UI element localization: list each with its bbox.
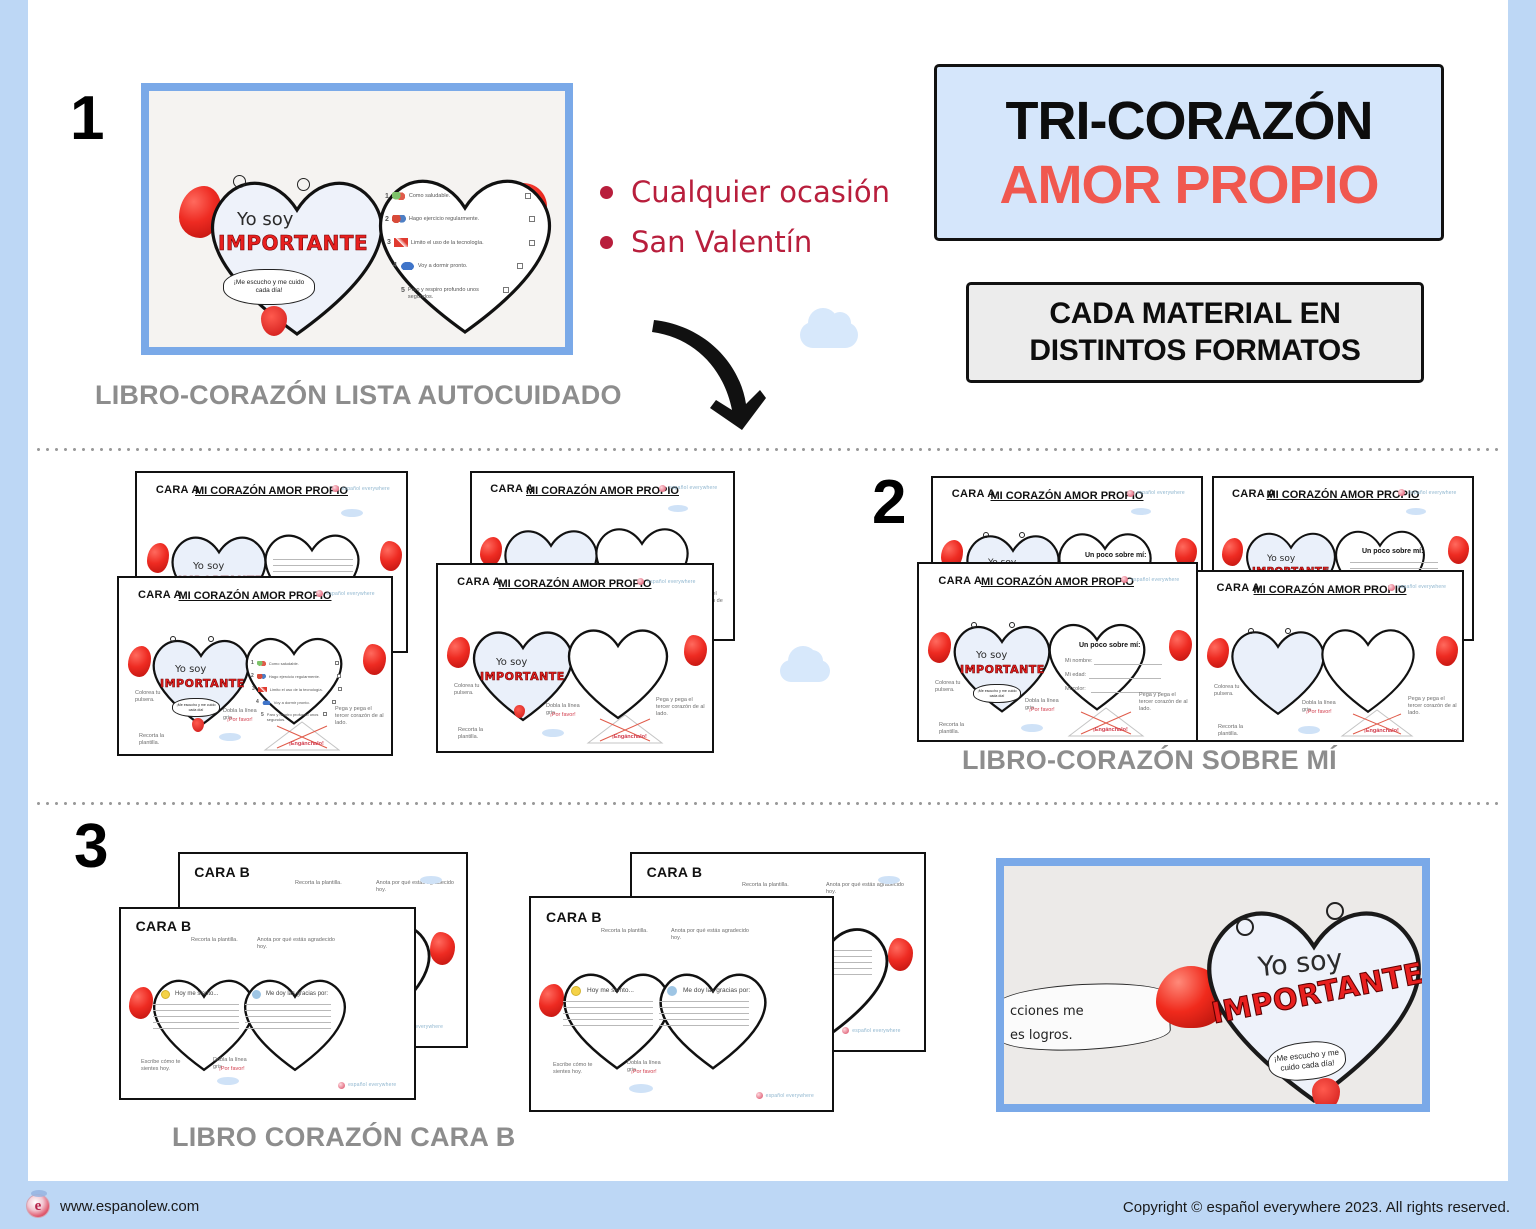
writing-line xyxy=(1094,664,1162,670)
cloud-decoration-icon xyxy=(878,876,900,884)
note-escribe: Escribe cómo te sientes hoy. xyxy=(553,1062,607,1076)
checklist-icon xyxy=(258,687,267,692)
note-colorea: Colorea tu pulsera. xyxy=(1214,684,1248,698)
checklist-number: 4 xyxy=(393,262,397,269)
checklist-item: 1 Como saludable. xyxy=(251,660,339,666)
brand-logo: español everywhere xyxy=(1398,489,1456,496)
writing-lines xyxy=(245,1004,331,1034)
sheet-side-label: CARA A xyxy=(938,575,982,587)
footer-copyright: Copyright © español everywhere 2023. All… xyxy=(1123,1199,1510,1216)
writing-lines xyxy=(659,1001,749,1031)
speech-bubble: ¡Me escucho y me cuido cada día! xyxy=(223,269,315,305)
brand-label: español everywhere xyxy=(1408,490,1456,496)
note-dobla-red: ¡Por favor! xyxy=(550,712,576,719)
checklist-label: Voy a dormir pronto. xyxy=(418,263,514,269)
brand-label: español everywhere xyxy=(1137,490,1185,496)
photo-background: Yo soy IMPORTANTE ¡Me escucho y me cuido… xyxy=(149,91,565,347)
punch-hole-right-icon xyxy=(297,178,310,191)
title-line-2: AMOR PROPIO xyxy=(999,154,1378,216)
brand-label: español everywhere xyxy=(852,1028,900,1034)
worksheet-cara-b[interactable]: CARA B Recorta la plantilla. Anota por q… xyxy=(529,896,834,1112)
step-number-3: 3 xyxy=(74,816,108,878)
subtitle-line-1: CADA MATERIAL EN xyxy=(1049,296,1340,333)
punch-hole-right-icon xyxy=(208,636,214,642)
smiley-face-icon xyxy=(571,986,581,996)
step-caption-3: LIBRO CORAZÓN CARA B xyxy=(172,1122,515,1153)
checklist-number: 1 xyxy=(385,193,389,200)
checklist-label: Hago ejercicio regularmente. xyxy=(409,216,526,222)
brand-logo: español everywhere xyxy=(756,1092,814,1099)
red-heart-tab-right-icon xyxy=(363,644,386,675)
sheet-title: MI CORAZÓN AMOR PROPIO xyxy=(195,485,348,497)
sheet-side-label: CARA B xyxy=(546,909,602,925)
punch-hole-left-icon xyxy=(971,622,977,628)
brand-dot-icon xyxy=(659,485,666,492)
field-label-nombre: Mi nombre: xyxy=(1065,658,1093,665)
sheet-title: MI CORAZÓN AMOR PROPIO xyxy=(991,490,1144,502)
heart-text-line2: IMPORTANTE xyxy=(480,670,565,683)
checklist-checkbox[interactable] xyxy=(525,193,531,199)
checklist-checkbox[interactable] xyxy=(332,700,336,704)
brand-dot-icon xyxy=(1127,490,1134,497)
cloud-decoration-icon xyxy=(1131,508,1151,515)
red-heart-tab-right-icon xyxy=(1448,536,1469,564)
checklist-item: 1 Como saludable. xyxy=(385,192,531,200)
checklist-icon xyxy=(262,700,271,705)
feature-bullet-list: Cualquier ocasión San Valentín xyxy=(600,175,890,275)
cloud-decoration-icon xyxy=(1021,724,1043,732)
brand-label: español everywhere xyxy=(326,591,374,597)
section-divider-2 xyxy=(34,802,1504,805)
cloud-decoration-icon xyxy=(219,733,241,741)
sheet-side-label: CARA A xyxy=(457,576,501,588)
checklist-checkbox[interactable] xyxy=(335,661,339,665)
sheet-title: MI CORAZÓN AMOR PROPIO xyxy=(499,578,652,590)
footer-bar: e www.espanolew.com Copyright © español … xyxy=(0,1181,1536,1229)
note-engancha: ¡Engánchalo! xyxy=(289,741,324,748)
note-anota: Anota por qué estás agradecido hoy. xyxy=(671,928,753,942)
brand-label: español everywhere xyxy=(348,1082,396,1088)
note-recorta: Recorta la plantilla. xyxy=(295,880,347,887)
punch-hole-right-icon xyxy=(1285,628,1291,634)
smiley-face-icon xyxy=(161,990,170,999)
brand-dot-icon xyxy=(1398,489,1405,496)
prompt-hoy-me-siento: Hoy me siento... xyxy=(175,991,218,999)
punch-hole-left-icon xyxy=(983,532,989,538)
bullet-label: San Valentín xyxy=(631,225,812,259)
heart-text-line2: IMPORTANTE xyxy=(160,677,245,690)
punch-hole-left-icon xyxy=(233,175,246,188)
speech-bubble: ¡Me escucho y me cuido cada día! xyxy=(973,684,1021,703)
heart-text-line1: Yo soy xyxy=(237,209,293,230)
checklist-label: Como saludable. xyxy=(409,193,522,199)
note-recorta: Recorta la plantilla. xyxy=(191,937,243,944)
title-line-1: TRI-CORAZÓN xyxy=(1006,90,1373,152)
punch-hole-left-icon xyxy=(1236,918,1254,936)
writing-lines xyxy=(563,1001,653,1031)
checklist-label: Hago ejercicio regularmente. xyxy=(269,674,334,679)
brand-dot-icon xyxy=(756,1092,763,1099)
brand-label: español everywhere xyxy=(1398,584,1446,590)
red-heart-tab-right-icon xyxy=(1436,636,1458,666)
checklist-item: 2 Hago ejercicio regularmente. xyxy=(251,673,341,679)
checklist-label: Limito el uso de la tecnología. xyxy=(411,240,526,246)
sheet-side-label: CARA A xyxy=(952,488,996,500)
checklist-checkbox[interactable] xyxy=(323,712,327,716)
checklist-number: 2 xyxy=(385,216,389,223)
note-anota: Anota por qué estás agradecido hoy. xyxy=(826,882,906,896)
brand-logo: español everywhere xyxy=(332,485,390,492)
punch-hole-right-icon xyxy=(1326,902,1344,920)
field-label-color: Mi color: xyxy=(1065,686,1086,693)
checklist-item: 3 Limito el uso de la tecnología. xyxy=(387,238,535,247)
brand-label: español everywhere xyxy=(669,485,717,491)
brand-dot-icon xyxy=(842,1027,849,1034)
title-box: TRI-CORAZÓN AMOR PROPIO xyxy=(934,64,1444,241)
checklist-checkbox[interactable] xyxy=(529,240,535,246)
brand-label: español everywhere xyxy=(647,579,695,585)
note-anota: Anota por qué estás agradecido hoy. xyxy=(376,880,454,894)
checklist-number: 4 xyxy=(256,699,259,705)
brand-label: español everywhere xyxy=(342,486,390,492)
brand-dot-icon xyxy=(316,590,323,597)
note-dobla-red: ¡Por favor! xyxy=(1306,709,1332,716)
checklist-label: Voy a dormir pronto. xyxy=(274,700,329,705)
checklist-label: Limito el uso de la tecnología. xyxy=(270,687,335,692)
bracelet-text-line2: es logros. xyxy=(1010,1028,1073,1043)
checklist-number: 3 xyxy=(252,686,255,692)
heart-text-line1: Yo soy xyxy=(976,650,1007,661)
cloud-decoration-icon xyxy=(542,729,564,737)
product-photo-heart-checklist: Yo soy IMPORTANTE ¡Me escucho y me cuido… xyxy=(141,83,573,355)
list-item: San Valentín xyxy=(600,225,890,259)
subtitle-line-2: DISTINTOS FORMATOS xyxy=(1029,333,1360,370)
sheet-side-label: CARA B xyxy=(647,864,703,880)
un-poco-heading: Un poco sobre mí: xyxy=(1079,642,1140,651)
note-colorea: Colorea tu pulsera. xyxy=(135,690,169,704)
brand-logo: español everywhere xyxy=(842,1027,900,1034)
un-poco-heading: Un poco sobre mí: xyxy=(1085,552,1146,561)
red-heart-tab-right-icon xyxy=(380,541,402,571)
cloud-decoration-icon xyxy=(780,660,830,682)
list-item: Cualquier ocasión xyxy=(600,175,890,209)
heart-text-line1: Yo soy xyxy=(1267,554,1295,564)
poster-page: 1 2 3 LIBRO-CORAZÓN LISTA AUTOCUIDADO LI… xyxy=(0,0,1536,1229)
photo-background: cciones me es logros. Yo soy IMPORTANTE … xyxy=(1004,866,1422,1104)
brand-dot-icon xyxy=(338,1082,345,1089)
checklist-checkbox[interactable] xyxy=(338,687,342,691)
note-recorta: Recorta la plantilla. xyxy=(742,882,794,889)
note-engancha: ¡Engánchalo! xyxy=(1364,728,1399,735)
checklist-icon xyxy=(257,674,266,679)
hands-icon xyxy=(667,986,677,996)
checklist-item: 4 Voy a dormir pronto. xyxy=(393,261,523,270)
brand-label: español everywhere xyxy=(766,1093,814,1099)
bullet-dot-icon xyxy=(600,236,613,249)
note-engancha: ¡Engánchalo! xyxy=(1093,727,1128,734)
paper-heart-right xyxy=(365,151,565,351)
sheet-title: MI CORAZÓN AMOR PROPIO xyxy=(1267,489,1420,501)
checklist-item: 5 Paro y respiro profundo unos segundos. xyxy=(401,287,509,302)
brand-logo: español everywhere xyxy=(1121,576,1179,583)
checklist-icon xyxy=(400,261,415,270)
checklist-number: 1 xyxy=(251,660,254,666)
note-recorta: Recorta la plantilla. xyxy=(139,733,185,747)
worksheet-cara-a[interactable]: CARA A MI CORAZÓN AMOR PROPIO español ev… xyxy=(117,576,393,756)
sheet-side-label: CARA A xyxy=(138,589,182,601)
checklist-checkbox[interactable] xyxy=(337,674,341,678)
punch-hole-left-icon xyxy=(1248,628,1254,634)
note-colorea: Colorea tu pulsera. xyxy=(935,680,969,694)
strawberry-mascot-icon xyxy=(1312,1078,1340,1110)
bullet-label: Cualquier ocasión xyxy=(631,175,890,209)
bullet-dot-icon xyxy=(600,186,613,199)
sheet-side-label: CARA A xyxy=(156,484,200,496)
step-number-1: 1 xyxy=(70,88,104,150)
cloud-decoration-icon xyxy=(1298,726,1320,734)
sheet-title: MI CORAZÓN AMOR PROPIO xyxy=(981,576,1134,588)
punch-hole-right-icon xyxy=(1019,532,1025,538)
checklist-icon xyxy=(257,661,266,666)
checklist-label: Paro y respiro profundo unos segundos. xyxy=(408,287,500,302)
product-photo-heart-bracelet: cciones me es logros. Yo soy IMPORTANTE … xyxy=(996,858,1430,1112)
sheet-title: MI CORAZÓN AMOR PROPIO xyxy=(526,485,679,497)
note-anota: Anota por qué estás agradecido hoy. xyxy=(257,937,337,951)
cloud-decoration-icon xyxy=(668,505,688,512)
writing-line xyxy=(1089,678,1161,684)
cloud-decoration-icon xyxy=(217,1077,239,1085)
field-label-edad: Mi edad: xyxy=(1065,672,1086,679)
checklist-item: 3 Limito el uso de la tecnología. xyxy=(252,686,342,692)
cloud-decoration-icon xyxy=(629,1084,653,1093)
heart-text-line1: Yo soy xyxy=(496,657,527,668)
note-escribe: Escribe cómo te sientes hoy. xyxy=(141,1059,193,1073)
step-caption-1: LIBRO-CORAZÓN LISTA AUTOCUIDADO xyxy=(95,380,622,411)
note-dobla-red: ¡Por favor! xyxy=(1029,707,1055,714)
checklist-item: 4 Voy a dormir pronto. xyxy=(256,699,336,705)
sheet-title: MI CORAZÓN AMOR PROPIO xyxy=(179,590,332,602)
brand-label: español everywhere xyxy=(1131,577,1179,583)
hands-icon xyxy=(252,990,261,999)
note-colorea: Colorea tu pulsera. xyxy=(454,683,488,697)
heart-text-line2: IMPORTANTE xyxy=(960,663,1045,676)
brand-dot-icon xyxy=(332,485,339,492)
flow-arrow-icon xyxy=(648,312,778,449)
footer-website-link[interactable]: www.espanolew.com xyxy=(60,1198,199,1215)
checklist-number: 3 xyxy=(387,239,391,246)
espanolew-logo-icon: e xyxy=(26,1194,50,1218)
subtitle-box: CADA MATERIAL EN DISTINTOS FORMATOS xyxy=(966,282,1424,383)
brand-dot-icon xyxy=(637,578,644,585)
punch-hole-left-icon xyxy=(170,636,176,642)
worksheet-cara-a-sobre-mi[interactable]: CARA A MI CORAZÓN AMOR PROPIO español ev… xyxy=(917,562,1198,742)
brand-logo: español everywhere xyxy=(316,590,374,597)
note-dobla-red: ¡Por favor! xyxy=(631,1069,657,1076)
brand-dot-icon xyxy=(1388,584,1395,591)
cloud-decoration-icon xyxy=(341,509,363,517)
note-recorta: Recorta la plantilla. xyxy=(458,727,504,741)
checklist-icon xyxy=(392,215,406,223)
checklist-number: 2 xyxy=(251,673,254,679)
note-recorta: Recorta la plantilla. xyxy=(939,722,985,736)
sheet-title: MI CORAZÓN AMOR PROPIO xyxy=(1254,584,1407,596)
checklist-item: 2 Hago ejercicio regularmente. xyxy=(385,215,535,223)
speech-bubble: ¡Me escucho y me cuido cada día! xyxy=(172,698,220,717)
brand-logo: español everywhere xyxy=(1388,584,1446,591)
step-number-2: 2 xyxy=(872,472,906,534)
punch-hole-right-icon xyxy=(1009,622,1015,628)
note-engancha: ¡Engánchalo! xyxy=(612,734,647,741)
step-caption-2: LIBRO-CORAZÓN SOBRE MÍ xyxy=(962,745,1337,776)
sheet-side-label: CARA B xyxy=(136,918,192,934)
worksheet-cara-a[interactable]: CARA A MI CORAZÓN AMOR PROPIO español ev… xyxy=(436,563,714,753)
note-recorta: Recorta la plantilla. xyxy=(601,928,653,935)
checklist-icon xyxy=(392,192,406,200)
checklist-checkbox[interactable] xyxy=(517,263,523,269)
heart-text-line2: IMPORTANTE xyxy=(218,231,368,255)
heart-text-line1: Yo soy xyxy=(175,664,206,675)
writing-lines xyxy=(153,1004,239,1034)
brand-logo: español everywhere xyxy=(1127,490,1185,497)
cloud-decoration-icon xyxy=(420,876,442,884)
sheet-side-label: CARA B xyxy=(194,864,250,880)
cloud-decoration-icon xyxy=(800,322,858,348)
brand-logo: español everywhere xyxy=(338,1082,396,1089)
checklist-number: 5 xyxy=(401,287,405,294)
brand-dot-icon xyxy=(1121,576,1128,583)
checklist-label: Como saludable. xyxy=(269,661,332,666)
un-poco-heading: Un poco sobre mí: xyxy=(1362,548,1423,557)
worksheet-cara-b[interactable]: CARA B Recorta la plantilla. Anota por q… xyxy=(119,907,416,1100)
note-dobla-red: ¡Por favor! xyxy=(227,717,253,724)
checklist-icon xyxy=(394,238,408,247)
brand-logo: español everywhere xyxy=(637,578,695,585)
brand-logo: español everywhere xyxy=(659,485,717,492)
prompt-me-doy-gracias: Me doy las gracias por: xyxy=(266,991,328,999)
note-dobla-red: ¡Por favor! xyxy=(219,1066,245,1073)
red-heart-tab-right-icon xyxy=(684,635,707,666)
bracelet-text-line1: cciones me xyxy=(1010,1004,1084,1019)
note-recorta: Recorta la plantilla. xyxy=(1218,724,1264,738)
checklist-checkbox[interactable] xyxy=(529,216,535,222)
cloud-decoration-icon xyxy=(1406,508,1426,515)
checklist-checkbox[interactable] xyxy=(503,287,509,293)
red-heart-tab-right-icon xyxy=(1169,630,1192,661)
prompt-me-doy-gracias: Me doy las gracias por: xyxy=(683,987,750,995)
worksheet-cara-a-sobre-mi[interactable]: CARA A MI CORAZÓN AMOR PROPIO español ev… xyxy=(1196,570,1464,742)
footer-brand: e www.espanolew.com xyxy=(26,1194,199,1218)
heart-text-line1: Yo soy xyxy=(193,561,224,572)
prompt-hoy-me-siento: Hoy me siento... xyxy=(587,987,634,995)
